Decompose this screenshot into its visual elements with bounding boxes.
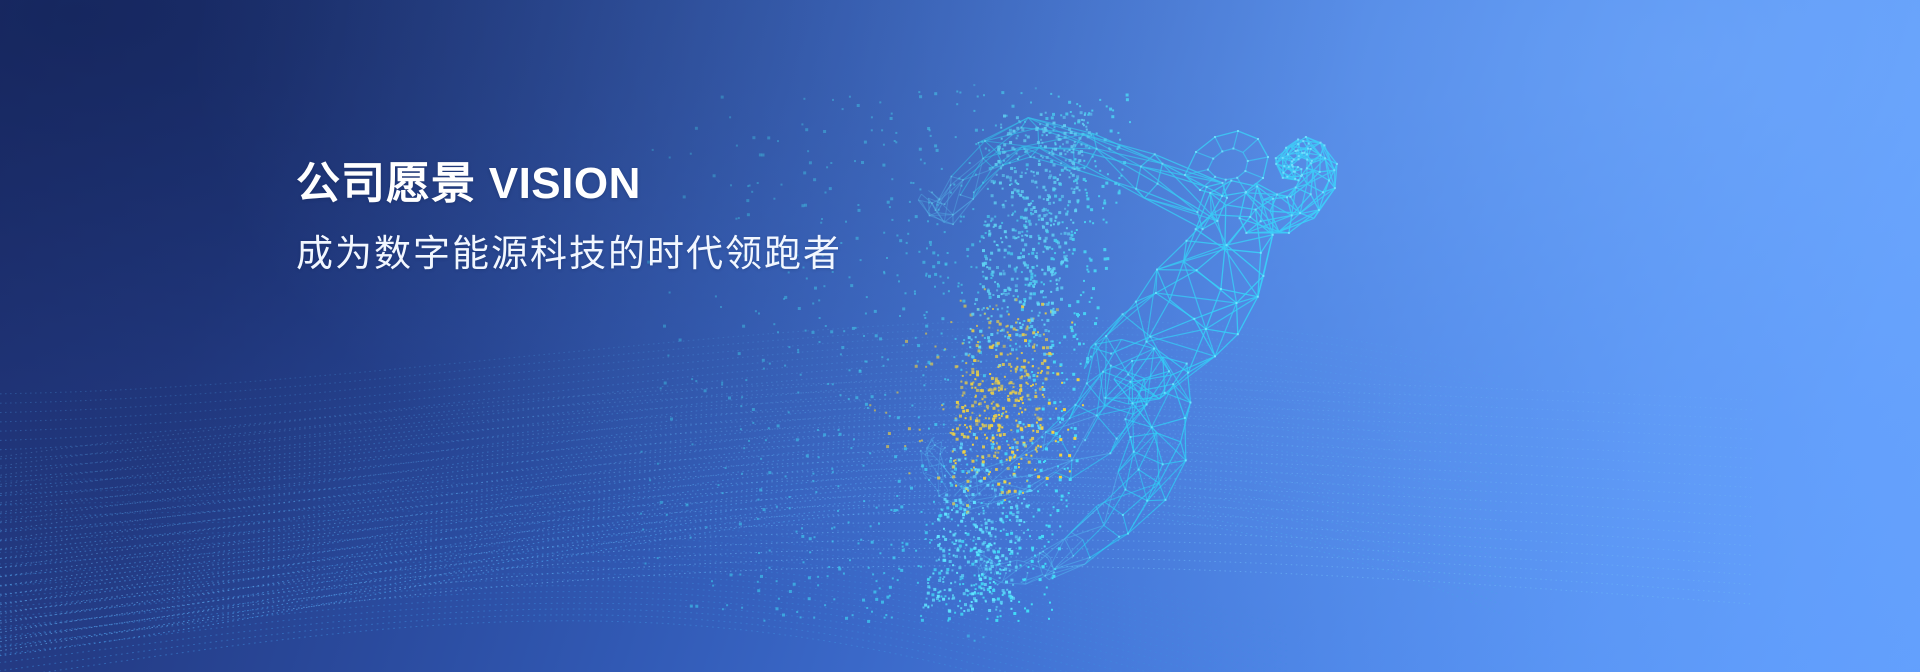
page-subtitle: 成为数字能源科技的时代领跑者 (296, 232, 842, 276)
gradient-glow-overlay (0, 0, 1920, 672)
particle-dissolve-graphic (0, 0, 1920, 672)
page-title-latin: VISION (476, 159, 641, 208)
wave-mesh-graphic (0, 0, 1920, 672)
page-title-zh: 公司愿景 (296, 159, 476, 208)
vision-banner: 公司愿景 VISION 成为数字能源科技的时代领跑者 (0, 0, 1920, 672)
wireframe-runner-graphic (0, 0, 1920, 672)
page-title: 公司愿景 VISION (296, 158, 842, 210)
banner-text-block: 公司愿景 VISION 成为数字能源科技的时代领跑者 (296, 158, 842, 276)
